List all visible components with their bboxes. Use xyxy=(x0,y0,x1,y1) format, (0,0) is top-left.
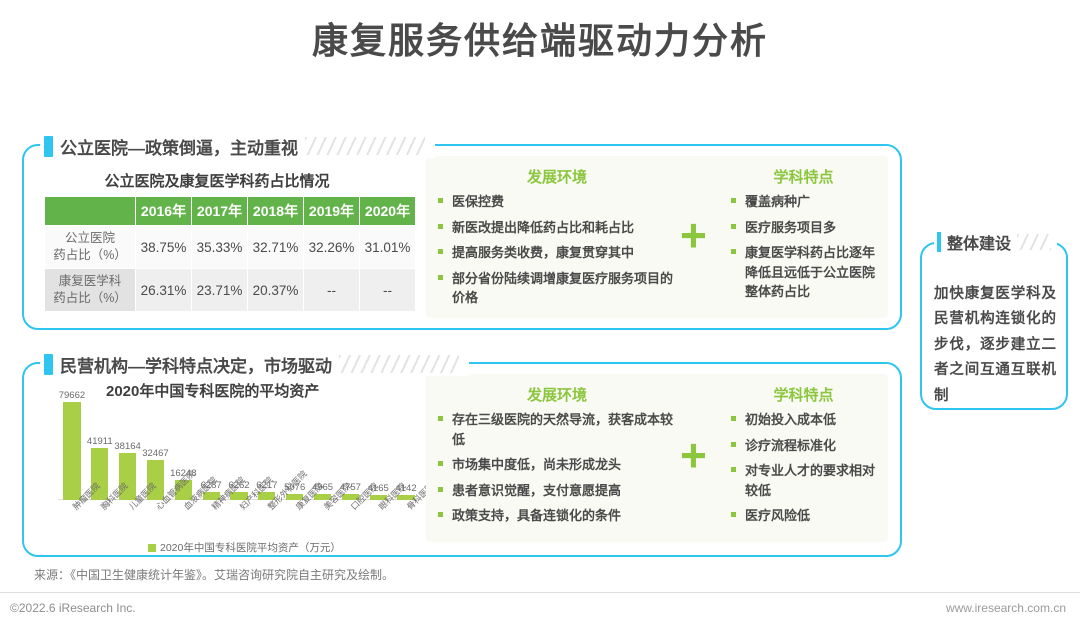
table-row: 康复医学科 药占比（%） 26.31% 23.71% 20.37% -- -- xyxy=(45,269,416,312)
cell-r0-c2: 32.71% xyxy=(248,226,304,269)
list-item: 提高服务类收费，康复贯穿其中 xyxy=(438,243,676,263)
website-link[interactable]: www.iresearch.com.cn xyxy=(946,601,1066,615)
row-label-public-hospital: 公立医院 药占比（%） xyxy=(45,226,136,269)
section-2-title: 民营机构—学科特点决定，市场驱动 xyxy=(60,352,332,377)
section-private-institution: 民营机构—学科特点决定，市场驱动 2020年中国专科医院的平均资产 796624… xyxy=(22,352,902,557)
section-2-text-panel: 发展环境 存在三级医院的天然导流，获客成本较低 市场集中度低，尚未形成龙头 患者… xyxy=(426,374,888,542)
table-header-row: 2016年 2017年 2018年 2019年 2020年 xyxy=(45,197,416,226)
list-item: 对专业人才的要求相对较低 xyxy=(731,461,876,500)
side-header: 整体建设 xyxy=(934,230,1057,254)
infographic-page: 康复服务供给端驱动力分析 公立医院—政策倒逼，主动重视 公立医院及康复医学科药占… xyxy=(0,0,1080,629)
accent-bar-icon xyxy=(937,232,941,252)
chart-category-labels: 肿瘤医院胸科医院儿童医院心血管病医院血液病医院精神病医院妇产科医院整形外科医院康… xyxy=(58,502,420,542)
col-env-list: 存在三级医院的天然导流，获客成本较低 市场集中度低，尚未形成龙头 患者意识觉醒，… xyxy=(438,410,676,526)
drug-ratio-table: 2016年 2017年 2018年 2019年 2020年 公立医院 药占比（%… xyxy=(44,196,416,312)
plus-icon: + xyxy=(680,212,707,258)
col-2019: 2019年 xyxy=(304,197,360,226)
list-item: 患者意识觉醒，支付意愿提高 xyxy=(438,481,676,501)
cell-r0-c4: 31.01% xyxy=(360,226,416,269)
section-2-header: 民营机构—学科特点决定，市场驱动 xyxy=(40,352,469,376)
list-item: 市场集中度低，尚未形成龙头 xyxy=(438,455,676,475)
legend-swatch-icon xyxy=(148,544,156,552)
section-2-col-feature: 学科特点 初始投入成本低 诊疗流程标准化 对专业人才的要求相对较低 医疗风险低 xyxy=(731,384,876,532)
overall-construction-panel: 整体建设 加快康复医学科及民营机构连锁化的步伐，逐步建立二者之间互通互联机制 xyxy=(920,230,1068,410)
chart-title: 2020年中国专科医院的平均资产 xyxy=(106,380,319,401)
col-env-list: 医保控费 新医改提出降低药占比和耗占比 提高服务类收费，康复贯穿其中 部分省份陆… xyxy=(438,192,676,308)
col-2016: 2016年 xyxy=(136,197,192,226)
section-1-title: 公立医院—政策倒逼，主动重视 xyxy=(60,134,298,159)
col-env-heading: 发展环境 xyxy=(438,166,676,187)
list-item: 覆盖病种广 xyxy=(731,192,876,212)
col-feature-list: 初始投入成本低 诊疗流程标准化 对专业人才的要求相对较低 医疗风险低 xyxy=(731,410,876,526)
list-item: 政策支持，具备连锁化的条件 xyxy=(438,506,676,526)
list-item: 新医改提出降低药占比和耗占比 xyxy=(438,218,676,238)
hatch-pattern-icon xyxy=(339,355,459,373)
source-note: 来源：《中国卫生健康统计年鉴》。艾瑞咨询研究院自主研究及绘制。 xyxy=(34,566,394,583)
cell-r1-c2: 20.37% xyxy=(248,269,304,312)
cell-r0-c0: 38.75% xyxy=(136,226,192,269)
section-1-col-feature: 学科特点 覆盖病种广 医疗服务项目多 康复医学科药占比逐年降低且远低于公立医院整… xyxy=(731,166,876,308)
cell-r1-c1: 23.71% xyxy=(192,269,248,312)
section-1-header: 公立医院—政策倒逼，主动重视 xyxy=(40,134,435,158)
cell-r0-c3: 32.26% xyxy=(304,226,360,269)
bar-value-label: 79662 xyxy=(58,390,86,401)
hatch-pattern-icon xyxy=(305,137,425,155)
col-2018: 2018年 xyxy=(248,197,304,226)
section-2-col-env: 发展环境 存在三级医院的天然导流，获客成本较低 市场集中度低，尚未形成龙头 患者… xyxy=(438,384,676,532)
list-item: 医疗风险低 xyxy=(731,506,876,526)
bar-value-label: 38164 xyxy=(114,441,142,452)
hatch-pattern-icon xyxy=(1017,234,1051,250)
col-2020: 2020年 xyxy=(360,197,416,226)
row-label-rehab-dept: 康复医学科 药占比（%） xyxy=(45,269,136,312)
page-title: 康复服务供给端驱动力分析 xyxy=(0,12,1080,64)
list-item: 医疗服务项目多 xyxy=(731,218,876,238)
cell-r1-c0: 26.31% xyxy=(136,269,192,312)
bar-肿瘤医院 xyxy=(63,402,80,500)
list-item: 康复医学科药占比逐年降低且远低于公立医院整体药占比 xyxy=(731,243,876,302)
plus-icon: + xyxy=(680,432,707,478)
footer-divider xyxy=(0,592,1080,593)
table-row: 公立医院 药占比（%） 38.75% 35.33% 32.71% 32.26% … xyxy=(45,226,416,269)
side-body-text: 加快康复医学科及民营机构连锁化的步伐，逐步建立二者之间互通互联机制 xyxy=(934,282,1056,409)
table-corner-cell xyxy=(45,197,136,226)
section-1-text-panel: 发展环境 医保控费 新医改提出降低药占比和耗占比 提高服务类收费，康复贯穿其中 … xyxy=(426,156,888,318)
col-env-heading: 发展环境 xyxy=(438,384,676,405)
accent-bar-icon xyxy=(44,136,53,157)
list-item: 部分省份陆续调增康复医疗服务项目的价格 xyxy=(438,269,676,308)
accent-bar-icon xyxy=(44,354,53,375)
legend-label: 2020年中国专科医院平均资产（万元） xyxy=(160,540,341,555)
col-feature-list: 覆盖病种广 医疗服务项目多 康复医学科药占比逐年降低且远低于公立医院整体药占比 xyxy=(731,192,876,302)
copyright-text: ©2022.6 iResearch Inc. xyxy=(10,601,136,615)
cell-r1-c3: -- xyxy=(304,269,360,312)
cell-r1-c4: -- xyxy=(360,269,416,312)
section-1-col-env: 发展环境 医保控费 新医改提出降低药占比和耗占比 提高服务类收费，康复贯穿其中 … xyxy=(438,166,676,314)
table-1-title: 公立医院及康复医学科药占比情况 xyxy=(52,170,382,191)
side-title: 整体建设 xyxy=(947,230,1011,254)
section-public-hospital: 公立医院—政策倒逼，主动重视 公立医院及康复医学科药占比情况 2016年 201… xyxy=(22,134,902,330)
col-feature-heading: 学科特点 xyxy=(731,166,876,187)
avg-assets-bar-chart: 2020年中国专科医院的平均资产 79662419113816432467162… xyxy=(36,380,428,552)
col-2017: 2017年 xyxy=(192,197,248,226)
list-item: 诊疗流程标准化 xyxy=(731,436,876,456)
bar-value-label: 41911 xyxy=(86,436,114,447)
list-item: 初始投入成本低 xyxy=(731,410,876,430)
chart-legend: 2020年中国专科医院平均资产（万元） xyxy=(148,540,341,555)
list-item: 医保控费 xyxy=(438,192,676,212)
cell-r0-c1: 35.33% xyxy=(192,226,248,269)
bar-value-label: 32467 xyxy=(141,448,169,459)
list-item: 存在三级医院的天然导流，获客成本较低 xyxy=(438,410,676,449)
col-feature-heading: 学科特点 xyxy=(731,384,876,405)
